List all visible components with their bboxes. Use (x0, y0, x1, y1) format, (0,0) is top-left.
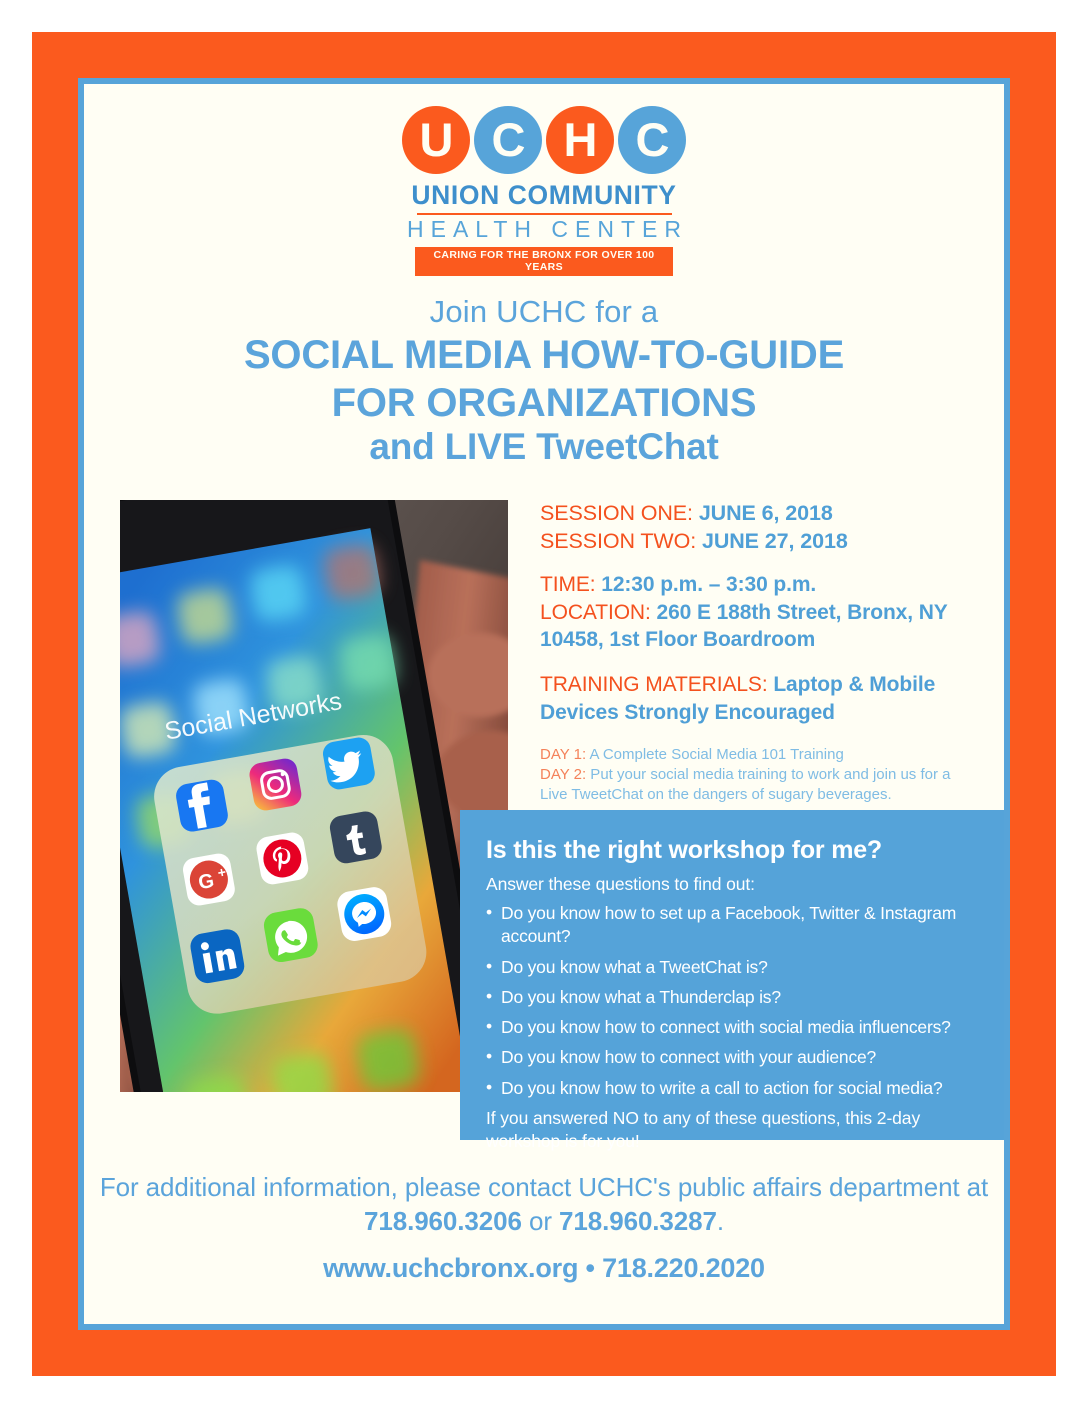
logo-divider (417, 213, 672, 215)
logo-tagline-bar: CARING FOR THE BRONX FOR OVER 100 YEARS (415, 247, 673, 276)
time-and-location: TIME: 12:30 p.m. – 3:30 p.m. LOCATION: 2… (540, 571, 976, 654)
contact-footer: For additional information, please conta… (84, 1170, 1004, 1284)
qbox-lead: Answer these questions to find out: (486, 874, 982, 895)
list-item: Do you know how to connect with social m… (486, 1016, 982, 1039)
messenger-icon (335, 885, 393, 943)
session-one-label: SESSION ONE: (540, 501, 693, 525)
location-row: LOCATION: 260 E 188th Street, Bronx, NY … (540, 599, 976, 654)
contact-phone-2: 718.960.3287 (559, 1206, 717, 1236)
flyer-content-canvas: U C H C UNION COMMUNITY HEALTH CENTER CA… (84, 84, 1004, 1324)
contact-or-text: or (522, 1206, 559, 1236)
location-label: LOCATION: (540, 601, 651, 624)
time-row: TIME: 12:30 p.m. – 3:30 p.m. (540, 571, 976, 599)
workshop-qualifier-box: Is this the right workshop for me? Answe… (460, 810, 1004, 1140)
session-two-row: SESSION TWO: JUNE 27, 2018 (540, 528, 976, 556)
twitter-icon (321, 736, 377, 792)
googleplus-icon: G + (181, 852, 237, 908)
day-2-label: DAY 2: (540, 766, 586, 783)
smartphone-photo: Social Networks (120, 500, 508, 1092)
logo-subtitle: HEALTH CENTER (84, 216, 1004, 243)
flyer-page: U C H C UNION COMMUNITY HEALTH CENTER CA… (0, 0, 1088, 1408)
title-block: Join UCHC for a SOCIAL MEDIA HOW-TO-GUID… (84, 294, 1004, 468)
session-two-label: SESSION TWO: (540, 529, 696, 553)
session-two-value: JUNE 27, 2018 (702, 529, 848, 553)
whatsapp-icon (262, 906, 320, 964)
training-materials-row: TRAINING MATERIALS: Laptop & Mobile Devi… (540, 671, 976, 726)
session-dates: SESSION ONE: JUNE 6, 2018 SESSION TWO: J… (540, 500, 976, 555)
qbox-question-list: Do you know how to set up a Facebook, Tw… (486, 902, 982, 1100)
smartphone-photo-illustration: Social Networks (120, 500, 508, 1092)
title-line-3: and LIVE TweetChat (84, 426, 1004, 468)
list-item: Do you know how to write a call to actio… (486, 1077, 982, 1100)
facebook-icon (174, 778, 230, 834)
day-1-label: DAY 1: (540, 746, 586, 763)
footer-separator: • (578, 1253, 602, 1283)
day-1-text: A Complete Social Media 101 Training (586, 746, 844, 763)
day-2-row: DAY 2: Put your social media training to… (540, 765, 976, 806)
session-one-row: SESSION ONE: JUNE 6, 2018 (540, 500, 976, 528)
contact-line: For additional information, please conta… (84, 1170, 1004, 1239)
list-item: Do you know what a Thunderclap is? (486, 986, 982, 1009)
logo-letter-c1: C (474, 106, 542, 174)
qbox-title: Is this the right workshop for me? (486, 836, 982, 865)
tumblr-icon (328, 810, 384, 866)
uchc-logo: U C H C UNION COMMUNITY HEALTH CENTER CA… (84, 106, 1004, 276)
contact-period: . (717, 1206, 724, 1236)
contact-phone-1: 718.960.3206 (364, 1206, 522, 1236)
social-networks-folder: G + (149, 730, 431, 1018)
instagram-icon (248, 757, 304, 813)
title-line-1: SOCIAL MEDIA HOW-TO-GUIDE (84, 333, 1004, 378)
logo-letter-h: H (546, 106, 614, 174)
logo-organization-name: UNION COMMUNITY (84, 180, 1004, 211)
qbox-footer-text: If you answered NO to any of these quest… (486, 1107, 982, 1154)
time-label: TIME: (540, 573, 596, 596)
pinterest-icon (255, 831, 311, 887)
website-link[interactable]: www.uchcbronx.org (323, 1253, 578, 1283)
logo-letter-u1: U (402, 106, 470, 174)
title-line-2: FOR ORGANIZATIONS (84, 381, 1004, 426)
day-agenda: DAY 1: A Complete Social Media 101 Train… (540, 745, 976, 806)
list-item: Do you know what a TweetChat is? (486, 956, 982, 979)
contact-intro-text: For additional information, please conta… (100, 1172, 988, 1202)
day-1-row: DAY 1: A Complete Social Media 101 Train… (540, 745, 976, 765)
website-and-main-phone: www.uchcbronx.org • 718.220.2020 (84, 1253, 1004, 1284)
logo-letter-c2: C (618, 106, 686, 174)
logo-circle-row: U C H C (84, 106, 1004, 174)
list-item: Do you know how to connect with your aud… (486, 1046, 982, 1069)
session-details: SESSION ONE: JUNE 6, 2018 SESSION TWO: J… (540, 500, 976, 806)
materials-label: TRAINING MATERIALS: (540, 673, 768, 696)
linkedin-icon (188, 927, 246, 985)
main-phone: 718.220.2020 (602, 1253, 765, 1283)
day-2-text: Put your social media training to work a… (540, 766, 951, 803)
time-value: 12:30 p.m. – 3:30 p.m. (601, 573, 816, 596)
title-kicker: Join UCHC for a (84, 294, 1004, 330)
list-item: Do you know how to set up a Facebook, Tw… (486, 902, 982, 949)
session-one-value: JUNE 6, 2018 (699, 501, 833, 525)
